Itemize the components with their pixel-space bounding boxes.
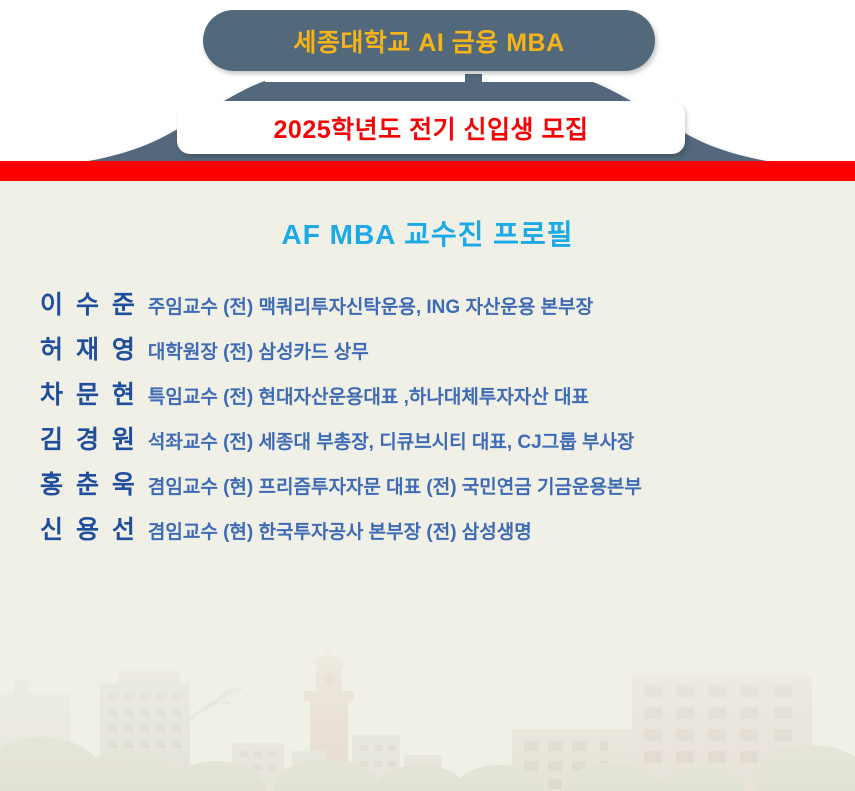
poster-root: 세종대학교 AI 금융 MBA 2025학년도 전기 신입생 모집 AF MBA… bbox=[0, 0, 855, 791]
campus-photo-graphic bbox=[0, 631, 855, 791]
list-item: 허 재 영 대학원장 (전) 삼성카드 상무 bbox=[40, 330, 830, 375]
faculty-description: 주임교수 (전) 맥쿼리투자신탁운용, ING 자산운용 본부장 bbox=[148, 292, 593, 319]
program-badge: 세종대학교 AI 금융 MBA bbox=[203, 10, 655, 71]
faculty-name: 차 문 현 bbox=[40, 375, 138, 411]
campus-photo bbox=[0, 631, 855, 791]
list-item: 차 문 현 특임교수 (전) 현대자산운용대표 ,하나대체투자자산 대표 bbox=[40, 375, 830, 420]
faculty-name: 홍 춘 욱 bbox=[40, 465, 138, 501]
faculty-name: 신 용 선 bbox=[40, 510, 138, 546]
poster-header: 세종대학교 AI 금융 MBA 2025학년도 전기 신입생 모집 bbox=[0, 0, 855, 181]
list-item: 이 수 준 주임교수 (전) 맥쿼리투자신탁운용, ING 자산운용 본부장 bbox=[40, 285, 830, 330]
faculty-name: 이 수 준 bbox=[40, 285, 138, 321]
list-item: 홍 춘 욱 겸임교수 (현) 프리즘투자자문 대표 (전) 국민연금 기금운용본… bbox=[40, 465, 830, 510]
faculty-name: 김 경 원 bbox=[40, 420, 138, 456]
admission-banner: 2025학년도 전기 신입생 모집 bbox=[177, 101, 685, 154]
admission-banner-label: 2025학년도 전기 신입생 모집 bbox=[274, 110, 589, 146]
faculty-description: 석좌교수 (전) 세종대 부총장, 디큐브시티 대표, CJ그룹 부사장 bbox=[148, 427, 635, 454]
poster-main: AF MBA 교수진 프로필 이 수 준 주임교수 (전) 맥쿼리투자신탁운용,… bbox=[0, 181, 855, 791]
faculty-description: 겸임교수 (현) 한국투자공사 본부장 (전) 삼성생명 bbox=[148, 517, 532, 544]
faculty-list: 이 수 준 주임교수 (전) 맥쿼리투자신탁운용, ING 자산운용 본부장 허… bbox=[40, 285, 830, 555]
red-divider-bar bbox=[0, 161, 855, 181]
faculty-name: 허 재 영 bbox=[40, 330, 138, 366]
program-badge-label: 세종대학교 AI 금융 MBA bbox=[293, 23, 564, 59]
list-item: 신 용 선 겸임교수 (현) 한국투자공사 본부장 (전) 삼성생명 bbox=[40, 510, 830, 555]
page-title: AF MBA 교수진 프로필 bbox=[0, 213, 855, 253]
faculty-description: 겸임교수 (현) 프리즘투자자문 대표 (전) 국민연금 기금운용본부 bbox=[148, 472, 642, 499]
faculty-description: 대학원장 (전) 삼성카드 상무 bbox=[148, 337, 369, 364]
list-item: 김 경 원 석좌교수 (전) 세종대 부총장, 디큐브시티 대표, CJ그룹 부… bbox=[40, 420, 830, 465]
faculty-description: 특임교수 (전) 현대자산운용대표 ,하나대체투자자산 대표 bbox=[148, 382, 589, 409]
